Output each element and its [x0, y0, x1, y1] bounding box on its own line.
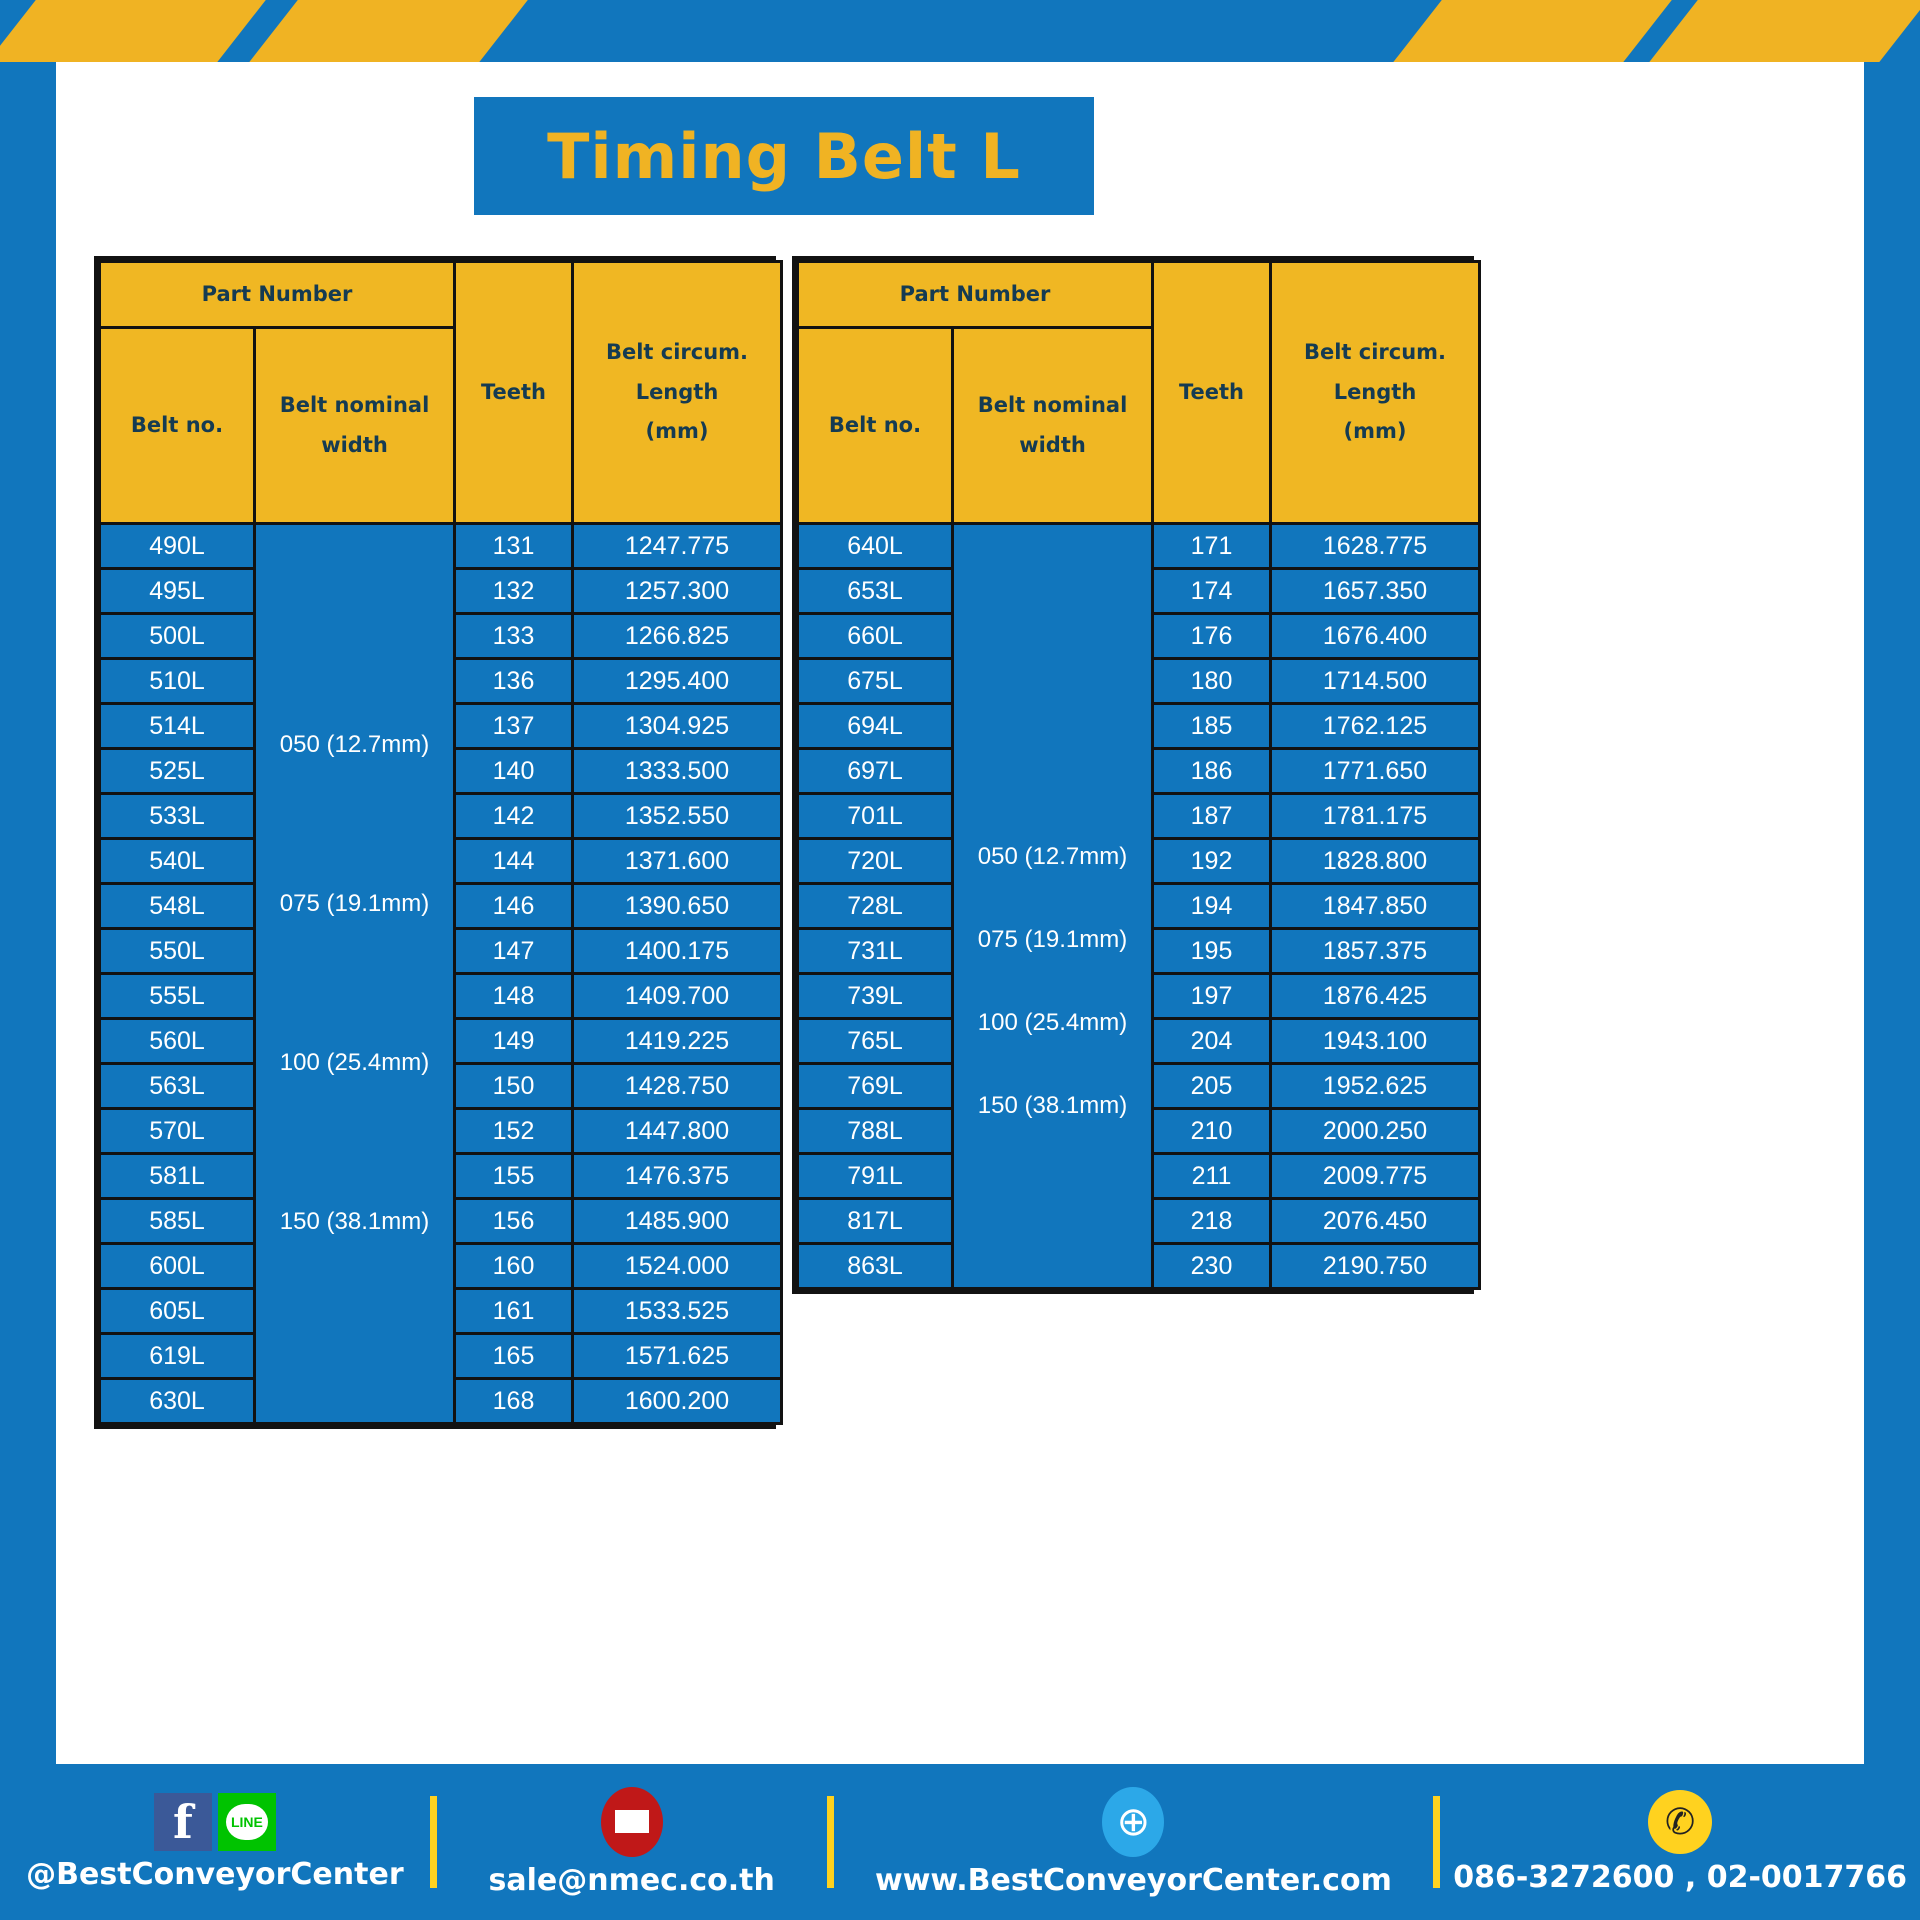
cell-length: 1257.300	[573, 569, 782, 614]
cell-teeth: 155	[455, 1154, 573, 1199]
cell-belt-no: 701L	[798, 794, 953, 839]
cell-length: 1247.775	[573, 524, 782, 569]
cell-length: 1771.650	[1271, 749, 1480, 794]
phone-icon[interactable]: ✆	[1648, 1790, 1712, 1854]
cell-length: 1400.175	[573, 929, 782, 974]
cell-teeth: 205	[1153, 1064, 1271, 1109]
cell-teeth: 171	[1153, 524, 1271, 569]
cell-teeth: 192	[1153, 839, 1271, 884]
cell-length: 1943.100	[1271, 1019, 1480, 1064]
cell-length: 2190.750	[1271, 1244, 1480, 1289]
cell-belt-no: 731L	[798, 929, 953, 974]
cell-length: 1571.625	[573, 1334, 782, 1379]
cell-teeth: 160	[455, 1244, 573, 1289]
cell-belt-no: 540L	[100, 839, 255, 884]
cell-teeth: 146	[455, 884, 573, 929]
decor-slash-2	[242, 0, 533, 62]
cell-length: 1266.825	[573, 614, 782, 659]
cell-teeth: 136	[455, 659, 573, 704]
width-option: 075 (19.1mm)	[954, 926, 1151, 954]
cell-length: 1352.550	[573, 794, 782, 839]
header-belt-nominal-width-right: Belt nominal width	[953, 328, 1153, 524]
cell-length: 1952.625	[1271, 1064, 1480, 1109]
decor-slash-3	[1386, 0, 1677, 62]
cell-belt-no: 600L	[100, 1244, 255, 1289]
social-handle: @BestConveyorCenter	[26, 1857, 403, 1892]
cell-belt-no: 495L	[100, 569, 255, 614]
phone-numbers: 086-3272600 , 02-0017766	[1453, 1860, 1907, 1895]
cell-length: 1781.175	[1271, 794, 1480, 839]
header-belt-nominal-right: Belt nominal	[956, 386, 1149, 426]
cell-length: 1428.750	[573, 1064, 782, 1109]
contact-footer: f LINE @BestConveyorCenter sale@nmec.co.…	[0, 1764, 1920, 1920]
cell-belt-no: 728L	[798, 884, 953, 929]
cell-teeth: 142	[455, 794, 573, 839]
footer-divider-3	[1433, 1796, 1440, 1888]
cell-belt-no: 550L	[100, 929, 255, 974]
header-belt-circum-line2-right: Length	[1274, 373, 1476, 413]
cell-belt-no: 630L	[100, 1379, 255, 1424]
cell-teeth: 176	[1153, 614, 1271, 659]
cell-length: 1857.375	[1271, 929, 1480, 974]
header-teeth-left: Teeth	[455, 262, 573, 524]
cell-length: 1409.700	[573, 974, 782, 1019]
cell-teeth: 131	[455, 524, 573, 569]
cell-length: 1333.500	[573, 749, 782, 794]
page-title-text: Timing Belt L	[547, 120, 1021, 193]
cell-teeth: 187	[1153, 794, 1271, 839]
cell-belt-no: 863L	[798, 1244, 953, 1289]
cell-belt-no: 694L	[798, 704, 953, 749]
width-option: 150 (38.1mm)	[256, 1208, 453, 1236]
width-option: 100 (25.4mm)	[954, 1009, 1151, 1037]
cell-length: 1476.375	[573, 1154, 782, 1199]
header-belt-circum-right: Belt circum. Length (mm)	[1271, 262, 1480, 524]
cell-teeth: 211	[1153, 1154, 1271, 1199]
cell-length: 1447.800	[573, 1109, 782, 1154]
cell-teeth: 133	[455, 614, 573, 659]
email-address: sale@nmec.co.th	[488, 1863, 774, 1898]
cell-teeth: 194	[1153, 884, 1271, 929]
cell-teeth: 218	[1153, 1199, 1271, 1244]
cell-length: 1657.350	[1271, 569, 1480, 614]
table-row: 640L050 (12.7mm)075 (19.1mm)100 (25.4mm)…	[798, 524, 1480, 569]
website-url: www.BestConveyorCenter.com	[875, 1863, 1392, 1898]
width-option: 150 (38.1mm)	[954, 1092, 1151, 1120]
top-decoration-bar	[0, 0, 1920, 62]
header-belt-circum-line2-left: Length	[576, 373, 778, 413]
cell-belt-no: 791L	[798, 1154, 953, 1199]
cell-teeth: 210	[1153, 1109, 1271, 1154]
cell-belt-nominal-width: 050 (12.7mm)075 (19.1mm)100 (25.4mm)150 …	[255, 524, 455, 1424]
social-icons: f LINE	[154, 1793, 276, 1851]
header-belt-circum-line1-left: Belt circum.	[576, 333, 778, 373]
page-title: Timing Belt L	[474, 97, 1094, 215]
cell-length: 1419.225	[573, 1019, 782, 1064]
envelope-shape	[613, 1808, 651, 1835]
cell-length: 2009.775	[1271, 1154, 1480, 1199]
globe-glyph: ⊕	[1117, 1802, 1151, 1842]
cell-belt-no: 555L	[100, 974, 255, 1019]
cell-belt-no: 581L	[100, 1154, 255, 1199]
cell-length: 1876.425	[1271, 974, 1480, 1019]
footer-email[interactable]: sale@nmec.co.th	[437, 1787, 827, 1898]
cell-teeth: 186	[1153, 749, 1271, 794]
cell-belt-no: 739L	[798, 974, 953, 1019]
cell-belt-no: 769L	[798, 1064, 953, 1109]
footer-divider-1	[430, 1796, 437, 1888]
cell-length: 2076.450	[1271, 1199, 1480, 1244]
cell-belt-no: 500L	[100, 614, 255, 659]
cell-teeth: 148	[455, 974, 573, 1019]
cell-belt-no: 788L	[798, 1109, 953, 1154]
cell-teeth: 195	[1153, 929, 1271, 974]
cell-belt-no: 585L	[100, 1199, 255, 1244]
cell-belt-no: 548L	[100, 884, 255, 929]
cell-length: 1533.525	[573, 1289, 782, 1334]
cell-teeth: 161	[455, 1289, 573, 1334]
cell-teeth: 147	[455, 929, 573, 974]
phone-glyph: ✆	[1665, 1804, 1695, 1840]
cell-length: 1304.925	[573, 704, 782, 749]
cell-belt-no: 605L	[100, 1289, 255, 1334]
cell-length: 1847.850	[1271, 884, 1480, 929]
line-bubble: LINE	[226, 1804, 268, 1840]
cell-belt-no: 640L	[798, 524, 953, 569]
cell-belt-no: 570L	[100, 1109, 255, 1154]
cell-length: 1295.400	[573, 659, 782, 704]
timing-belt-table-right: Part Number Teeth Belt circum. Length (m…	[792, 256, 1474, 1294]
cell-belt-no: 765L	[798, 1019, 953, 1064]
cell-teeth: 150	[455, 1064, 573, 1109]
cell-belt-no: 510L	[100, 659, 255, 704]
cell-belt-no: 720L	[798, 839, 953, 884]
header-part-number-right: Part Number	[798, 262, 1153, 328]
cell-length: 1524.000	[573, 1244, 782, 1289]
header-belt-nominal-left: Belt nominal	[258, 386, 451, 426]
footer-divider-2	[827, 1796, 834, 1888]
cell-belt-no: 514L	[100, 704, 255, 749]
cell-belt-no: 817L	[798, 1199, 953, 1244]
cell-length: 2000.250	[1271, 1109, 1480, 1154]
cell-teeth: 180	[1153, 659, 1271, 704]
cell-belt-no: 563L	[100, 1064, 255, 1109]
cell-belt-no: 697L	[798, 749, 953, 794]
table-body-right: 640L050 (12.7mm)075 (19.1mm)100 (25.4mm)…	[798, 524, 1480, 1289]
header-belt-circum-line3-left: (mm)	[576, 412, 778, 452]
cell-belt-no: 525L	[100, 749, 255, 794]
cell-length: 1390.650	[573, 884, 782, 929]
cell-teeth: 197	[1153, 974, 1271, 1019]
line-icon[interactable]: LINE	[218, 1793, 276, 1851]
cell-length: 1371.600	[573, 839, 782, 884]
header-width-left: width	[258, 426, 451, 466]
cell-length: 1628.775	[1271, 524, 1480, 569]
cell-belt-no: 675L	[798, 659, 953, 704]
header-belt-circum-left: Belt circum. Length (mm)	[573, 262, 782, 524]
cell-teeth: 204	[1153, 1019, 1271, 1064]
cell-length: 1485.900	[573, 1199, 782, 1244]
header-teeth-right: Teeth	[1153, 262, 1271, 524]
facebook-icon[interactable]: f	[154, 1793, 212, 1851]
cell-belt-no: 660L	[798, 614, 953, 659]
footer-website[interactable]: ⊕ www.BestConveyorCenter.com	[834, 1787, 1434, 1898]
globe-icon[interactable]: ⊕	[1102, 1787, 1164, 1857]
width-option: 075 (19.1mm)	[256, 890, 453, 918]
cell-teeth: 156	[455, 1199, 573, 1244]
cell-belt-nominal-width: 050 (12.7mm)075 (19.1mm)100 (25.4mm)150 …	[953, 524, 1153, 1289]
email-icon[interactable]	[601, 1787, 663, 1857]
cell-belt-no: 490L	[100, 524, 255, 569]
cell-teeth: 165	[455, 1334, 573, 1379]
cell-teeth: 137	[455, 704, 573, 749]
cell-length: 1714.500	[1271, 659, 1480, 704]
table-row: 490L050 (12.7mm)075 (19.1mm)100 (25.4mm)…	[100, 524, 782, 569]
cell-teeth: 132	[455, 569, 573, 614]
header-belt-no-right: Belt no.	[798, 328, 953, 524]
header-belt-nominal-width-left: Belt nominal width	[255, 328, 455, 524]
cell-teeth: 144	[455, 839, 573, 884]
cell-belt-no: 533L	[100, 794, 255, 839]
decor-slash-1	[0, 0, 270, 62]
cell-teeth: 168	[455, 1379, 573, 1424]
cell-belt-no: 560L	[100, 1019, 255, 1064]
cell-teeth: 174	[1153, 569, 1271, 614]
cell-teeth: 152	[455, 1109, 573, 1154]
width-option: 050 (12.7mm)	[954, 843, 1151, 871]
cell-length: 1762.125	[1271, 704, 1480, 749]
cell-teeth: 140	[455, 749, 573, 794]
decor-slash-4	[1642, 0, 1920, 62]
header-belt-circum-line1-right: Belt circum.	[1274, 333, 1476, 373]
cell-teeth: 185	[1153, 704, 1271, 749]
cell-belt-no: 653L	[798, 569, 953, 614]
header-belt-no-left: Belt no.	[100, 328, 255, 524]
header-belt-circum-line3-right: (mm)	[1274, 412, 1476, 452]
footer-social[interactable]: f LINE @BestConveyorCenter	[0, 1793, 430, 1892]
timing-belt-table-left: Part Number Teeth Belt circum. Length (m…	[94, 256, 776, 1429]
table-body-left: 490L050 (12.7mm)075 (19.1mm)100 (25.4mm)…	[100, 524, 782, 1424]
cell-belt-no: 619L	[100, 1334, 255, 1379]
cell-teeth: 149	[455, 1019, 573, 1064]
width-option: 050 (12.7mm)	[256, 731, 453, 759]
width-option: 100 (25.4mm)	[256, 1049, 453, 1077]
header-width-right: width	[956, 426, 1149, 466]
cell-length: 1676.400	[1271, 614, 1480, 659]
header-part-number-left: Part Number	[100, 262, 455, 328]
cell-length: 1600.200	[573, 1379, 782, 1424]
cell-teeth: 230	[1153, 1244, 1271, 1289]
facebook-glyph: f	[173, 1799, 193, 1845]
footer-phone[interactable]: ✆ 086-3272600 , 02-0017766	[1440, 1790, 1920, 1895]
cell-length: 1828.800	[1271, 839, 1480, 884]
